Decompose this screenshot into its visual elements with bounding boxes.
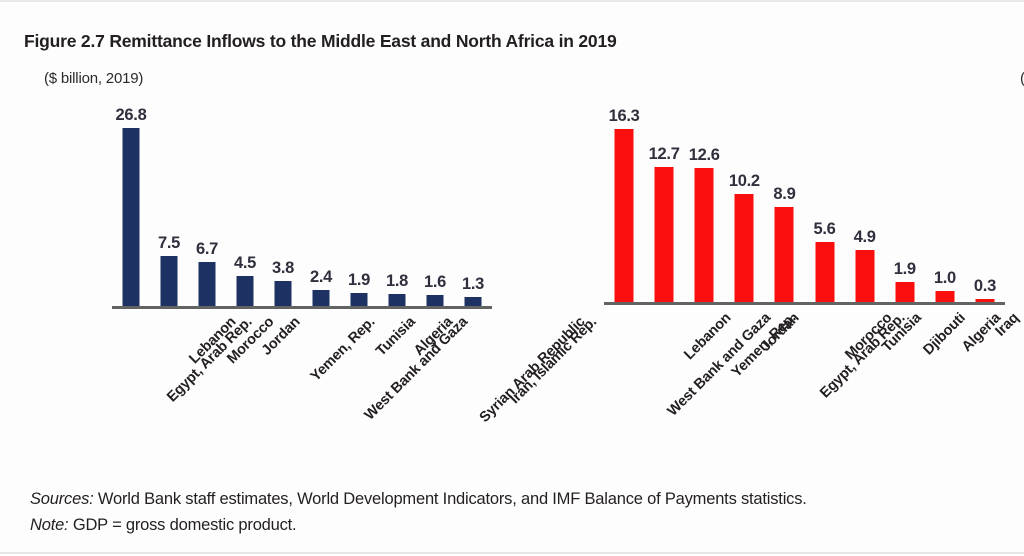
bar-value-label: 10.2 <box>729 172 760 191</box>
figure-page: Figure 2.7 Remittance Inflows to the Mid… <box>0 0 1024 554</box>
bar-group: 1.8Algeria <box>378 95 416 306</box>
bar-value-label: 7.5 <box>158 234 180 253</box>
x-axis-line <box>112 306 492 309</box>
bar-value-label: 1.9 <box>348 271 370 290</box>
bar-group: 12.6Yemen, Rep. <box>684 95 724 302</box>
bar-group: 4.5Jordan <box>226 95 264 306</box>
bar-value-label: 12.7 <box>649 145 680 164</box>
bar-value-label: 4.5 <box>234 254 256 273</box>
bar-group: 12.7Lebanon <box>644 95 684 302</box>
bar <box>275 281 292 306</box>
bar-group: 1.9Tunisia <box>340 95 378 306</box>
bar-group: 8.9Egypt, Arab Rep. <box>764 95 804 302</box>
bar <box>735 194 754 302</box>
bar-value-label: 2.4 <box>310 268 332 287</box>
bar <box>655 167 674 302</box>
bar <box>389 294 406 306</box>
figure-notes: Sources: World Bank staff estimates, Wor… <box>30 486 807 538</box>
bar-group: 2.4West Bank and Gaza <box>302 95 340 306</box>
bar-group: 1.9Djibouti <box>885 95 925 302</box>
bar-value-label: 16.3 <box>609 107 640 126</box>
x-axis-line <box>604 302 1005 305</box>
bar <box>615 129 634 302</box>
bar <box>199 262 216 306</box>
bar-value-label: 1.3 <box>462 275 484 294</box>
bar-group: 5.6Morocco <box>805 95 845 302</box>
plot-area-gdp: 16.3West Bank and Gaza12.7Lebanon12.6Yem… <box>604 98 1005 305</box>
bar-value-label: 6.7 <box>196 240 218 259</box>
bar <box>237 276 254 306</box>
bar-group: 7.5Lebanon <box>150 95 188 306</box>
bar <box>123 128 140 306</box>
bar-series-dollars: 26.8Egypt, Arab Rep.7.5Lebanon6.7Morocco… <box>112 95 492 306</box>
bar-value-label: 1.6 <box>424 273 446 292</box>
x-tick-label: Djibouti <box>920 310 968 358</box>
bar <box>895 282 914 302</box>
bar-value-label: 3.8 <box>272 259 294 278</box>
bar <box>351 293 368 306</box>
bar-group: 1.0Algeria <box>925 95 965 302</box>
bar <box>427 295 444 306</box>
sources-text: World Bank staff estimates, World Develo… <box>94 490 807 508</box>
chart-panel-gdp: (Percentage of GDP, 2019) 16.3West Bank … <box>512 2 1024 556</box>
bar <box>855 250 874 302</box>
bar <box>935 291 954 302</box>
bar-group: 4.9Tunisia <box>845 95 885 302</box>
chart-subtitle-gdp: (Percentage of GDP, 2019) <box>1020 70 1024 87</box>
bar-group: 10.2Jordan <box>724 95 764 302</box>
chart-panel-dollars: ($ billion, 2019) 26.8Egypt, Arab Rep.7.… <box>0 2 512 556</box>
bar <box>815 242 834 302</box>
bar-group: 26.8Egypt, Arab Rep. <box>112 95 150 306</box>
sources-label: Sources: <box>30 490 94 508</box>
x-tick-label: Yemen, Rep. <box>308 314 379 385</box>
note-text: GDP = gross domestic product. <box>68 516 296 534</box>
bar <box>775 207 794 302</box>
bar-value-label: 12.6 <box>689 146 720 165</box>
bar-value-label: 4.9 <box>854 228 876 247</box>
note-label: Note: <box>30 516 68 534</box>
bar-group: 1.6Syrian Arab Republic <box>416 95 454 306</box>
sources-line: Sources: World Bank staff estimates, Wor… <box>30 486 807 512</box>
bar <box>161 256 178 306</box>
x-tick-label: Tunisia <box>373 314 418 359</box>
bar-value-label: 0.3 <box>974 277 996 296</box>
bar-series-gdp: 16.3West Bank and Gaza12.7Lebanon12.6Yem… <box>604 95 1005 302</box>
bar-value-label: 1.0 <box>934 269 956 288</box>
bar-value-label: 8.9 <box>773 185 795 204</box>
bar-group: 1.3Iran, Islamic Rep. <box>454 95 492 306</box>
bar-group: 0.3Iraq <box>965 95 1005 302</box>
note-line: Note: GDP = gross domestic product. <box>30 512 807 538</box>
bar-group: 3.8Yemen, Rep. <box>264 95 302 306</box>
bar <box>695 168 714 302</box>
x-tick-label: Egypt, Arab Rep. <box>818 310 909 401</box>
bar-value-label: 26.8 <box>116 106 147 125</box>
bar-group: 16.3West Bank and Gaza <box>604 95 644 302</box>
bar-value-label: 5.6 <box>814 220 836 239</box>
bar <box>313 290 330 306</box>
chart-subtitle-dollars: ($ billion, 2019) <box>44 70 143 87</box>
bar-value-label: 1.8 <box>386 272 408 291</box>
bar-value-label: 1.9 <box>894 260 916 279</box>
plot-area-dollars: 26.8Egypt, Arab Rep.7.5Lebanon6.7Morocco… <box>112 98 492 309</box>
bar <box>465 297 482 306</box>
x-tick-label: West Bank and Gaza <box>362 314 471 423</box>
bar-group: 6.7Morocco <box>188 95 226 306</box>
